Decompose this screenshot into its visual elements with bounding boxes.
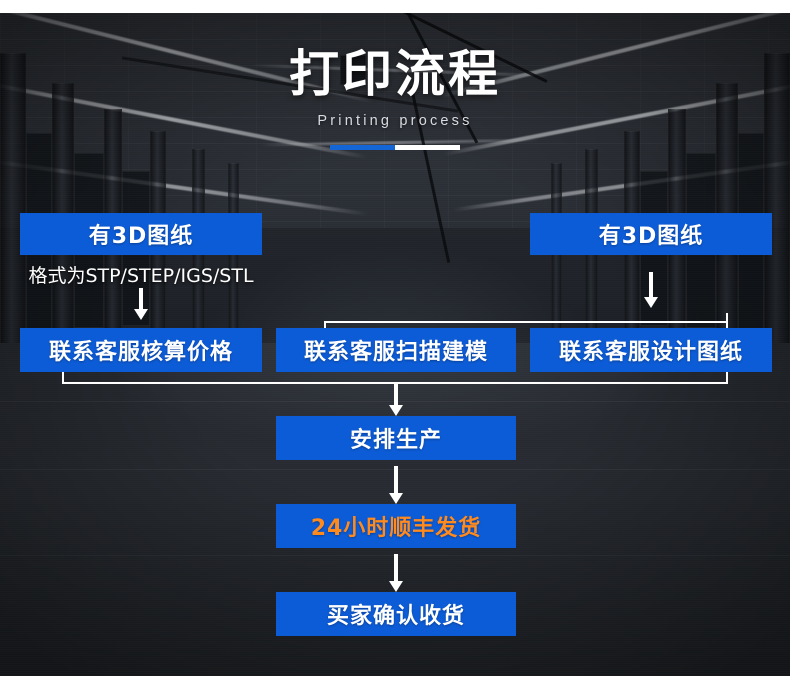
node-contact-service-quote[interactable]: 联系客服核算价格 xyxy=(20,328,262,372)
arrow-down-right-column xyxy=(644,272,658,308)
node-ship-within-24h[interactable]: 24小时顺丰发货 xyxy=(276,504,516,548)
page-margin-bottom xyxy=(0,676,790,696)
node-buyer-confirm-receipt[interactable]: 买家确认收货 xyxy=(276,592,516,636)
node-contact-service-design-drawing[interactable]: 联系客服设计图纸 xyxy=(530,328,772,372)
page-margin-top xyxy=(0,0,790,13)
arrow-down-to-shipping xyxy=(389,466,403,504)
node-has-3d-drawing-right[interactable]: 有3D图纸 xyxy=(530,213,772,255)
node-arrange-production[interactable]: 安排生产 xyxy=(276,416,516,460)
arrow-down-left-column xyxy=(134,288,148,320)
caption-file-formats: 格式为STP/STEP/IGS/STL xyxy=(20,261,262,288)
flow-chart: 有3D图纸 有3D图纸 格式为STP/STEP/IGS/STL 联系客服核算价格… xyxy=(0,0,790,696)
print-process-infographic: 打印流程 Printing process 有3D图纸 有3D图纸 格式为STP… xyxy=(0,0,790,696)
arrow-down-to-confirm-receipt xyxy=(389,554,403,592)
node-has-3d-drawing-left[interactable]: 有3D图纸 xyxy=(20,213,262,255)
bracket-top-horizontal xyxy=(324,321,728,323)
node-contact-service-scan-model[interactable]: 联系客服扫描建模 xyxy=(276,328,516,372)
arrow-down-to-production xyxy=(389,382,403,416)
